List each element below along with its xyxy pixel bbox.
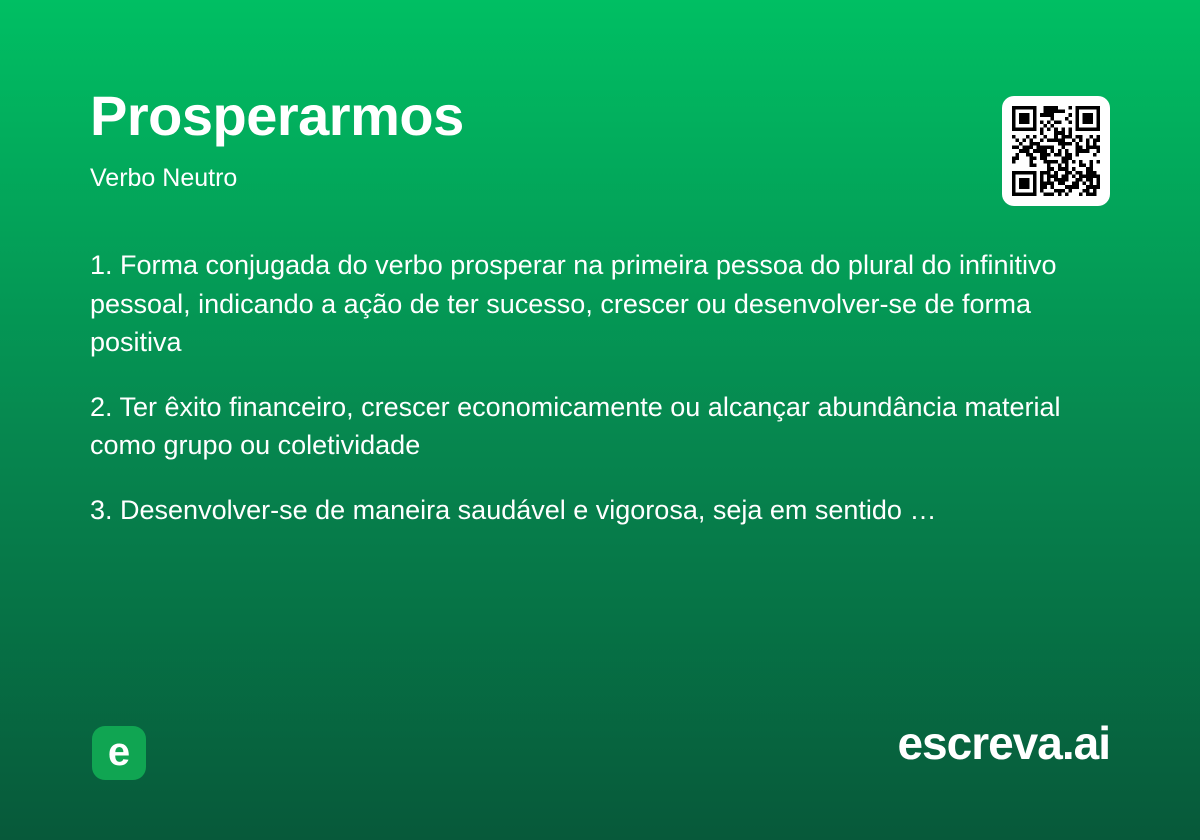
qr-code-panel[interactable] bbox=[1002, 96, 1110, 206]
brand-wordmark: escreva.ai bbox=[897, 720, 1110, 766]
page-title: Prosperarmos bbox=[90, 88, 970, 144]
definition-item-3: 3. Desenvolver-se de maneira saudável e … bbox=[90, 491, 1080, 530]
definition-card: Prosperarmos Verbo Neutro 1. Forma conju… bbox=[0, 0, 1200, 840]
brand-logo-badge: e bbox=[92, 726, 146, 780]
card-header: Prosperarmos Verbo Neutro bbox=[90, 88, 970, 191]
definition-item-1: 1. Forma conjugada do verbo prosperar na… bbox=[90, 246, 1080, 362]
definition-list: 1. Forma conjugada do verbo prosperar na… bbox=[90, 246, 1080, 530]
definition-item-2: 2. Ter êxito financeiro, crescer economi… bbox=[90, 388, 1080, 465]
word-class-label: Verbo Neutro bbox=[90, 166, 970, 191]
qr-code-icon[interactable] bbox=[1012, 106, 1100, 196]
brand-logo-letter: e bbox=[108, 732, 130, 772]
